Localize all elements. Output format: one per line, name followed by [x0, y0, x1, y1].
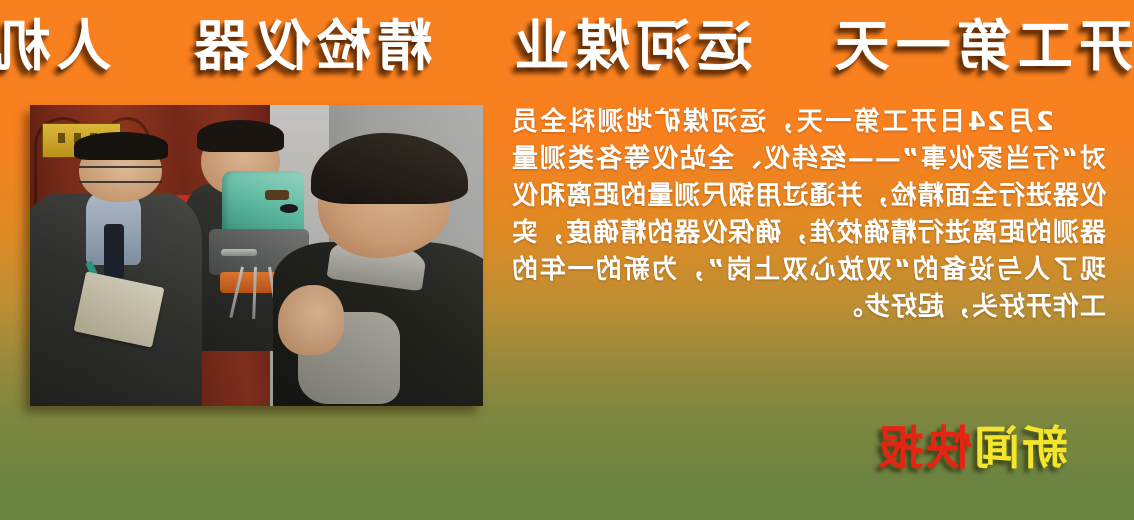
- logo-part-bulletin: 快报: [876, 421, 972, 475]
- title-segment-4: 人机双放心: [0, 8, 112, 84]
- title-segment-1: 开工第一天: [829, 8, 1134, 84]
- article-body: 2月24日开工第一天，运河煤矿地测科全员对“行当家伙事”——经纬仪、全站仪等各类…: [511, 104, 1106, 326]
- logo-part-news: 新闻: [972, 421, 1068, 475]
- photo-scene: [30, 105, 483, 406]
- title-segment-3: 精检仪器: [188, 8, 432, 84]
- photo-shading: [30, 105, 483, 406]
- news-photo: [30, 105, 483, 406]
- page-title: 开工第一天 运河煤业 精检仪器 人机双放心: [0, 8, 1134, 84]
- news-poster: 开工第一天 运河煤业 精检仪器 人机双放心 2月24日开工第一天，运河煤矿地测科…: [0, 0, 1134, 520]
- publication-logo: 新闻快报: [876, 412, 1068, 478]
- title-segment-2: 运河煤业: [509, 8, 753, 84]
